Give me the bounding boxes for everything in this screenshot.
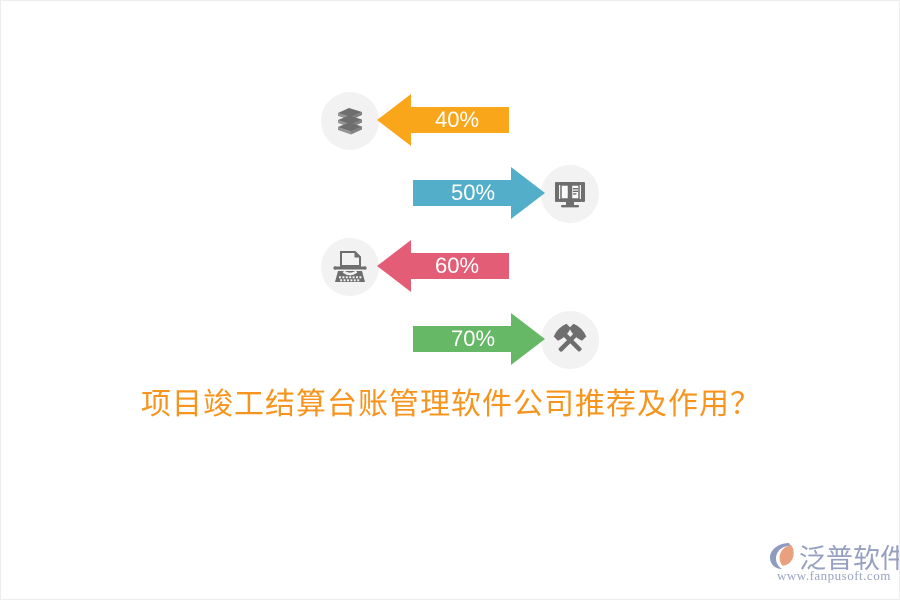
typewriter-icon-circle (321, 238, 379, 296)
arrow-infographic: 40% (301, 83, 621, 379)
open-book-icon (552, 178, 588, 210)
logo-url: www.fanpusoft.com (777, 568, 891, 584)
infographic-row: 50% (301, 156, 621, 230)
arrow-label-50: 50% (407, 167, 539, 219)
crossed-hammers-icon-circle (541, 311, 599, 369)
arrow-label-70: 70% (407, 313, 539, 365)
crossed-hammers-icon (552, 322, 588, 358)
infographic-row: 40% (301, 83, 621, 157)
page-title: 项目竣工结算台账管理软件公司推荐及作用？ (1, 379, 900, 423)
screenshot-canvas: 40% (0, 0, 900, 600)
infographic-row: 70% (301, 302, 621, 376)
books-stack-icon-circle (321, 92, 379, 150)
typewriter-icon (331, 250, 369, 284)
fanpu-logo-mark-icon (769, 541, 803, 571)
arrow-label-60: 60% (391, 240, 523, 292)
open-book-icon-circle (541, 165, 599, 223)
arrow-label-40: 40% (391, 94, 523, 146)
infographic-row: 60% (301, 229, 621, 303)
watermark-logo: 泛普软件 www.fanpusoft.com (769, 537, 893, 585)
books-stack-icon (332, 104, 368, 138)
